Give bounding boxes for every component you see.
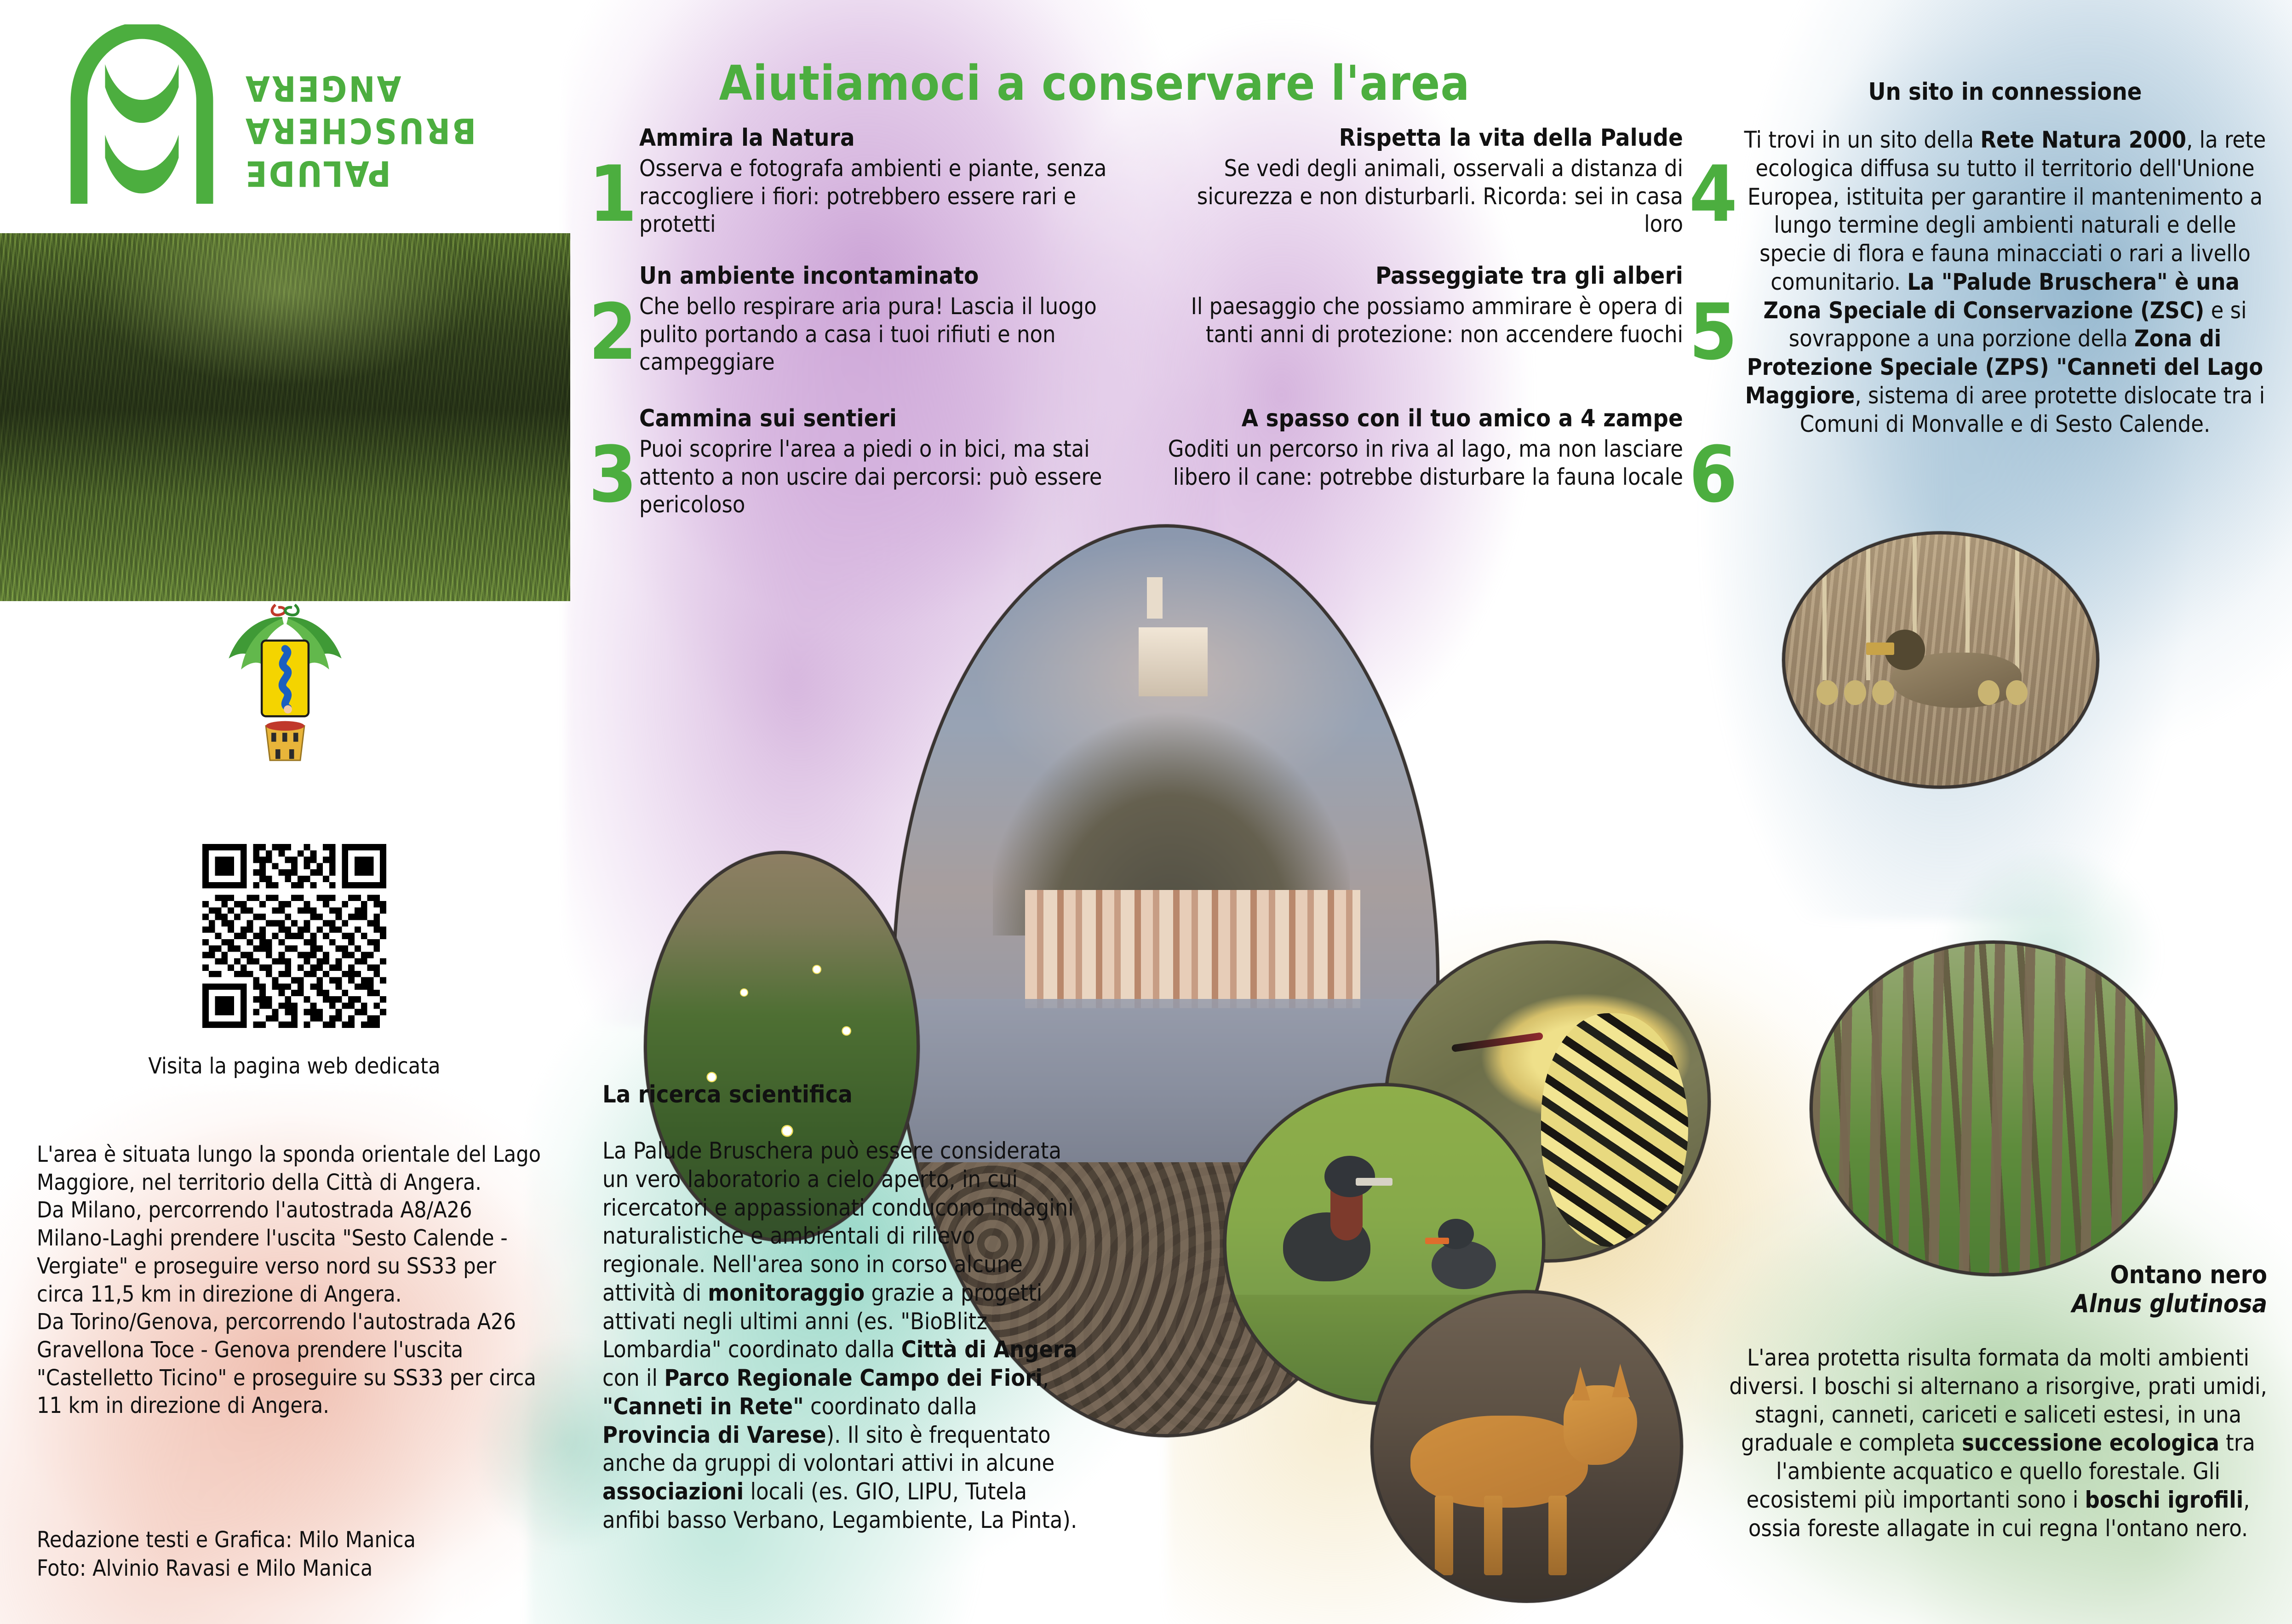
crest-biscione-snake: [282, 649, 288, 708]
photo-wetland-forest: [0, 233, 570, 601]
qr-code[interactable]: [202, 844, 386, 1028]
section-directions: L'area è situata lungo la sponda orienta…: [37, 1141, 547, 1420]
tip-number-4: 4: [1689, 155, 1737, 233]
fox-leg: [1435, 1496, 1453, 1575]
tip-number-5: 5: [1689, 293, 1737, 371]
rete-heading: Un sito in connessione: [1743, 78, 2267, 106]
tip-body-4: Se vedi degli animali, osservali a dista…: [1159, 155, 1683, 238]
fox-body: [1410, 1416, 1588, 1508]
brand-logo-line-2: BRUSCHERA: [244, 109, 538, 152]
credit-line-2: Foto: Alvinio Ravasi e Milo Manica: [37, 1555, 561, 1583]
tip-item-4: 4 Rispetta la vita della Palude Se vedi …: [1159, 124, 1683, 238]
tip-number-6: 6: [1689, 436, 1737, 513]
photo-alder-woodland: [1810, 941, 2177, 1276]
snake-body: [1541, 1013, 1688, 1247]
tip-body-5: Il paesaggio che possiamo ammirare è ope…: [1159, 293, 1683, 348]
brand-logo-line-1: PALUDE: [244, 152, 538, 195]
grebe-adult-beak: [1356, 1178, 1392, 1186]
tip-item-5: 5 Passeggiate tra gli alberi Il paesaggi…: [1159, 262, 1683, 348]
grebe-adult-head: [1324, 1156, 1375, 1197]
ricerca-heading: La ricerca scientifica: [602, 1081, 1081, 1108]
fox-leg: [1548, 1496, 1567, 1575]
tip-item-2: 2 Un ambiente incontaminato Che bello re…: [639, 262, 1113, 376]
grebe-chick-body: [1432, 1241, 1496, 1289]
section-ricerca-scientifica: La ricerca scientifica La Palude Brusche…: [602, 1081, 1081, 1535]
crest-mural-crown: [266, 721, 304, 760]
brand-logo-wordmark: PALUDE BRUSCHERA ANGERA: [244, 67, 538, 195]
reed-stem: [1866, 534, 1870, 680]
tip-title-1: Ammira la Natura: [639, 124, 1113, 152]
grebe-chick-head: [1438, 1219, 1474, 1249]
section-credits: Redazione testi e Grafica: Milo Manica F…: [37, 1526, 561, 1583]
brand-logo-line-3: ANGERA: [244, 67, 538, 109]
ontano-common-name: Ontano nero: [1729, 1260, 2267, 1289]
poster-canvas: PALUDE BRUSCHERA ANGERA: [0, 0, 2292, 1624]
tip-item-1: 1 Ammira la Natura Osserva e fotografa a…: [639, 124, 1113, 238]
reed-stem: [2015, 534, 2019, 680]
tip-title-6: A spasso con il tuo amico a 4 zampe: [1159, 405, 1683, 432]
tip-number-1: 1: [589, 155, 637, 233]
credit-line-1: Redazione testi e Grafica: Milo Manica: [37, 1526, 561, 1555]
tip-body-6: Goditi un percorso in riva al lago, ma n…: [1159, 435, 1683, 491]
brand-logo: PALUDE BRUSCHERA ANGERA: [51, 21, 538, 205]
snake-tongue: [1451, 1032, 1543, 1052]
castle-tower: [1147, 577, 1163, 619]
tip-item-6: 6 A spasso con il tuo amico a 4 zampe Go…: [1159, 405, 1683, 491]
castle-keep: [1139, 627, 1208, 696]
ontano-scientific-name: Alnus glutinosa: [1729, 1289, 2267, 1318]
tip-title-3: Cammina sui sentieri: [639, 405, 1113, 432]
grebe-chick-beak: [1425, 1238, 1449, 1244]
duckling: [2006, 680, 2028, 706]
reed-stem: [1822, 534, 1827, 680]
tip-number-3: 3: [589, 436, 637, 513]
tip-title-4: Rispetta la vita della Palude: [1159, 124, 1683, 152]
page-title: Aiutiamoci a conservare l'area: [589, 55, 1600, 111]
tip-number-2: 2: [589, 293, 637, 371]
lakeside-town: [1025, 890, 1360, 1008]
rete-paragraph: Ti trovi in un sito della Rete Natura 20…: [1743, 126, 2267, 438]
tip-body-1: Osserva e fotografa ambienti e piante, s…: [639, 155, 1113, 238]
duckling: [1844, 680, 1866, 706]
tip-title-2: Un ambiente incontaminato: [639, 262, 1113, 290]
angera-coat-of-arms: [216, 598, 354, 773]
crest-figure: [284, 705, 292, 713]
section-rete-natura: Un sito in connessione Ti trovi in un si…: [1743, 78, 2267, 438]
ontano-paragraph: L'area protetta risulta formata da molti…: [1729, 1344, 2267, 1543]
ricerca-paragraph: La Palude Bruschera può essere considera…: [602, 1137, 1081, 1535]
duckling: [1816, 680, 1838, 706]
mallard-beak: [1866, 643, 1894, 655]
tip-title-5: Passeggiate tra gli alberi: [1159, 262, 1683, 290]
fox-leg: [1484, 1496, 1502, 1575]
shield-waves-logo-icon: [63, 24, 221, 208]
tip-item-3: 3 Cammina sui sentieri Puoi scoprire l'a…: [639, 405, 1113, 519]
photo-red-fox: [1370, 1290, 1683, 1603]
web-page-label: Visita la pagina web dedicata: [37, 1053, 552, 1079]
crest-ribbon: [272, 605, 298, 615]
photo-mallard-ducklings: [1782, 531, 2099, 789]
section-ontano-nero: Ontano nero Alnus glutinosa L'area prote…: [1729, 1260, 2267, 1543]
tip-body-2: Che bello respirare aria pura! Lascia il…: [639, 293, 1113, 376]
duckling: [1872, 680, 1894, 706]
tip-body-3: Puoi scoprire l'area a piedi o in bici, …: [639, 435, 1113, 519]
photo-wetland-forest-light: [0, 233, 570, 601]
